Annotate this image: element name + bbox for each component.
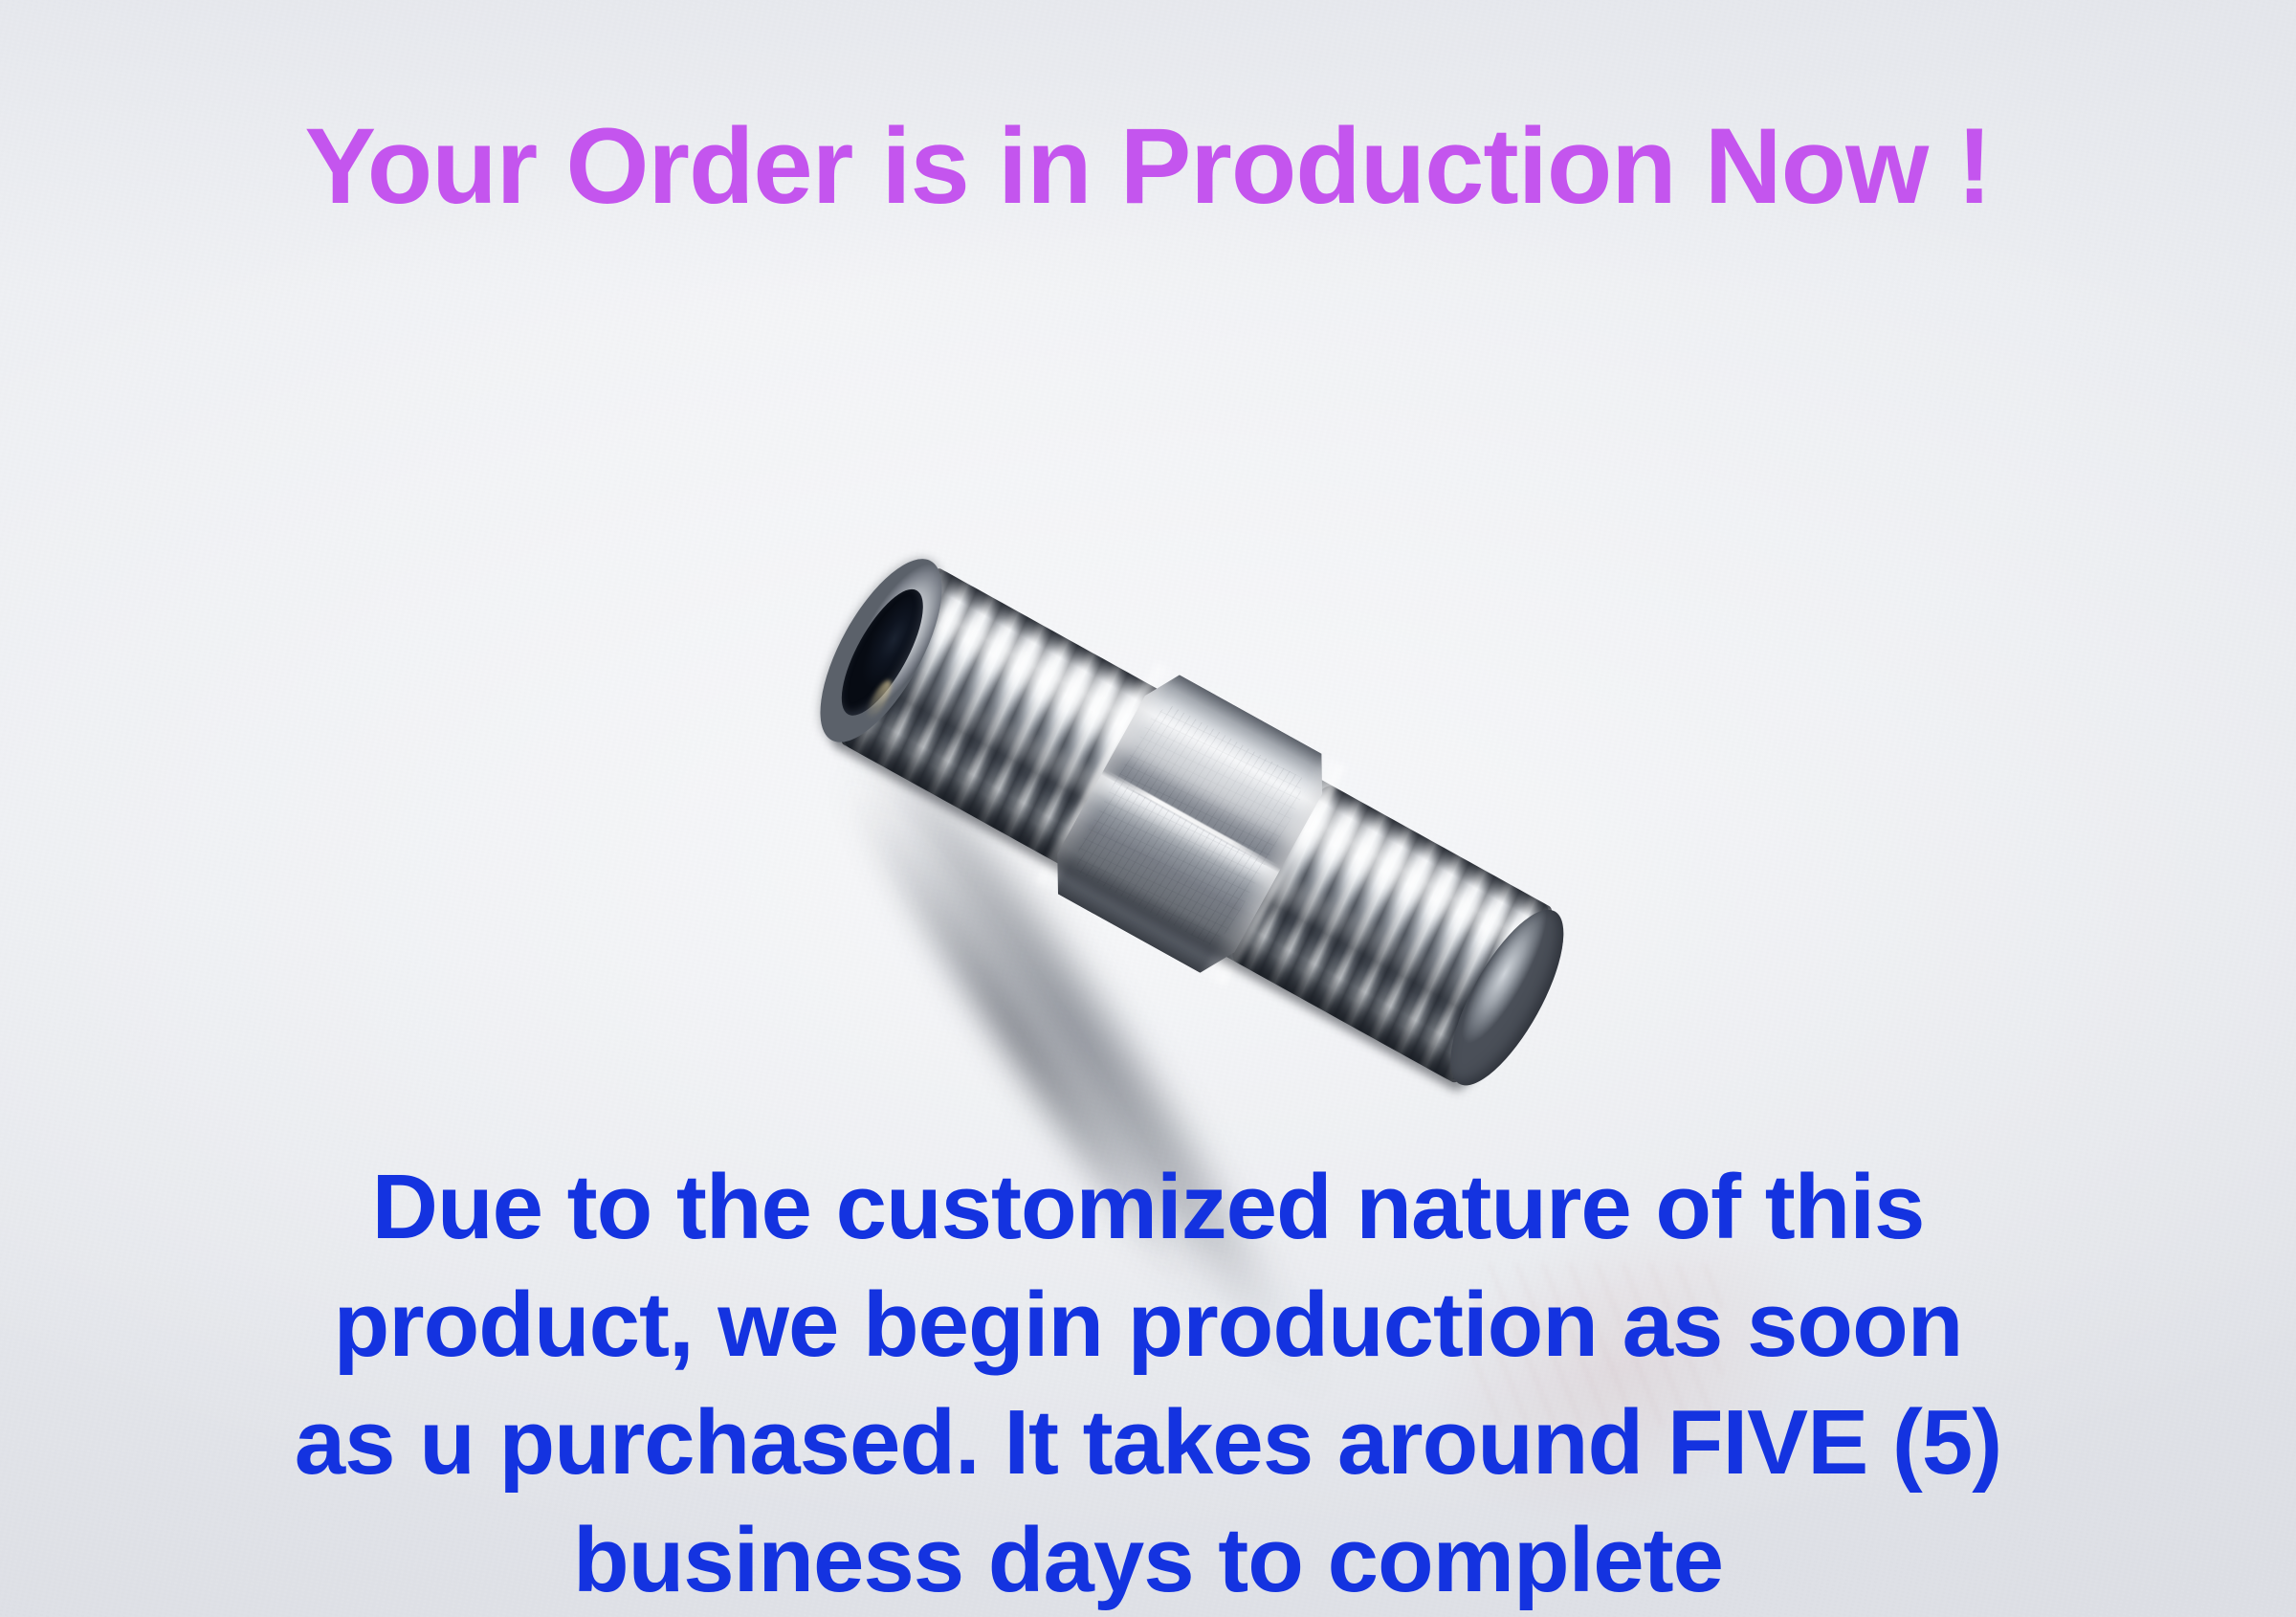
page-title: Your Order is in Production Now ! bbox=[0, 113, 2296, 220]
production-notice: Due to the customized nature of this pro… bbox=[0, 1148, 2296, 1617]
product-photo bbox=[703, 445, 1689, 1201]
promo-banner: Your Order is in Production Now ! Due to… bbox=[0, 0, 2296, 1617]
notice-line-1: Due to the customized nature of this bbox=[0, 1148, 2296, 1266]
notice-line-4: business days to complete bbox=[0, 1501, 2296, 1617]
notice-line-3: as u purchased. It takes around FIVE (5) bbox=[0, 1384, 2296, 1501]
notice-line-2: product, we begin production as soon bbox=[0, 1266, 2296, 1384]
